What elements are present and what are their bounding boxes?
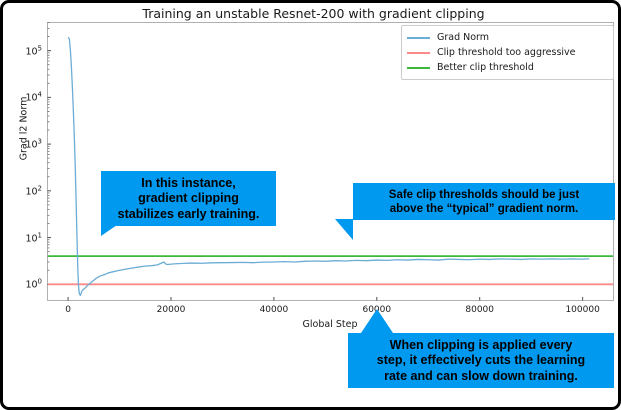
annotation-tail-icon [335, 219, 353, 240]
legend-item-clip-better: Better clip threshold [407, 60, 606, 75]
annotation-line: When clipping is applied every [354, 338, 608, 353]
x-axis-label: Global Step [47, 319, 613, 330]
legend-swatch-clip-aggressive [407, 52, 430, 54]
x-tick-label: 100000 [565, 305, 599, 315]
x-tick-label: 0 [65, 305, 71, 315]
annotation-line: gradient clipping [107, 191, 270, 206]
annotation-tail-icon [101, 225, 117, 236]
annotation-line: above the “typical” gradient norm. [359, 202, 609, 216]
legend-swatch-grad-norm [407, 37, 430, 39]
legend-label-grad-norm: Grad Norm [437, 32, 489, 43]
y-axis-label: Grad l2 Norm [19, 69, 30, 189]
y-tick-label: 102 [11, 184, 42, 197]
chart-title: Training an unstable Resnet-200 with gra… [3, 6, 621, 21]
annotation-callout-safe-threshold: Safe clip thresholds should be just abov… [353, 183, 615, 220]
legend-swatch-clip-better [407, 67, 430, 69]
annotation-callout-clipping-cost-body: When clipping is applied every step, it … [348, 333, 614, 388]
annotation-line: In this instance, [107, 176, 270, 191]
x-tick-label: 40000 [260, 305, 289, 315]
annotation-callout-clipping-cost: When clipping is applied every step, it … [348, 333, 614, 388]
annotation-line: rate and can slow down training. [354, 369, 608, 384]
y-tick-label: 103 [11, 138, 42, 151]
annotation-callout-early-training-body: In this instance, gradient clipping stab… [101, 171, 276, 226]
legend-item-clip-aggressive: Clip threshold too aggressive [407, 45, 606, 60]
y-tick-label: 100 [11, 278, 42, 291]
annotation-callout-safe-threshold-body: Safe clip thresholds should be just abov… [353, 183, 615, 220]
y-tick-label: 105 [11, 44, 42, 57]
annotation-callout-early-training: In this instance, gradient clipping stab… [101, 171, 276, 226]
y-tick-label: 104 [11, 91, 42, 104]
legend-label-clip-aggressive: Clip threshold too aggressive [437, 47, 576, 58]
chart-legend: Grad Norm Clip threshold too aggressive … [401, 25, 614, 80]
chart-figure: Training an unstable Resnet-200 with gra… [3, 3, 621, 410]
legend-label-clip-better: Better clip threshold [437, 62, 534, 73]
annotation-tail-icon [361, 309, 393, 333]
y-tick-label: 101 [11, 231, 42, 244]
annotation-line: step, it effectively cuts the learning [354, 353, 608, 368]
x-tick-label: 80000 [465, 305, 494, 315]
x-tick-label: 20000 [157, 305, 186, 315]
legend-item-grad-norm: Grad Norm [407, 30, 606, 45]
annotation-line: stabilizes early training. [107, 207, 270, 222]
screenshot-frame: Training an unstable Resnet-200 with gra… [0, 0, 621, 410]
annotation-line: Safe clip thresholds should be just [359, 188, 609, 202]
